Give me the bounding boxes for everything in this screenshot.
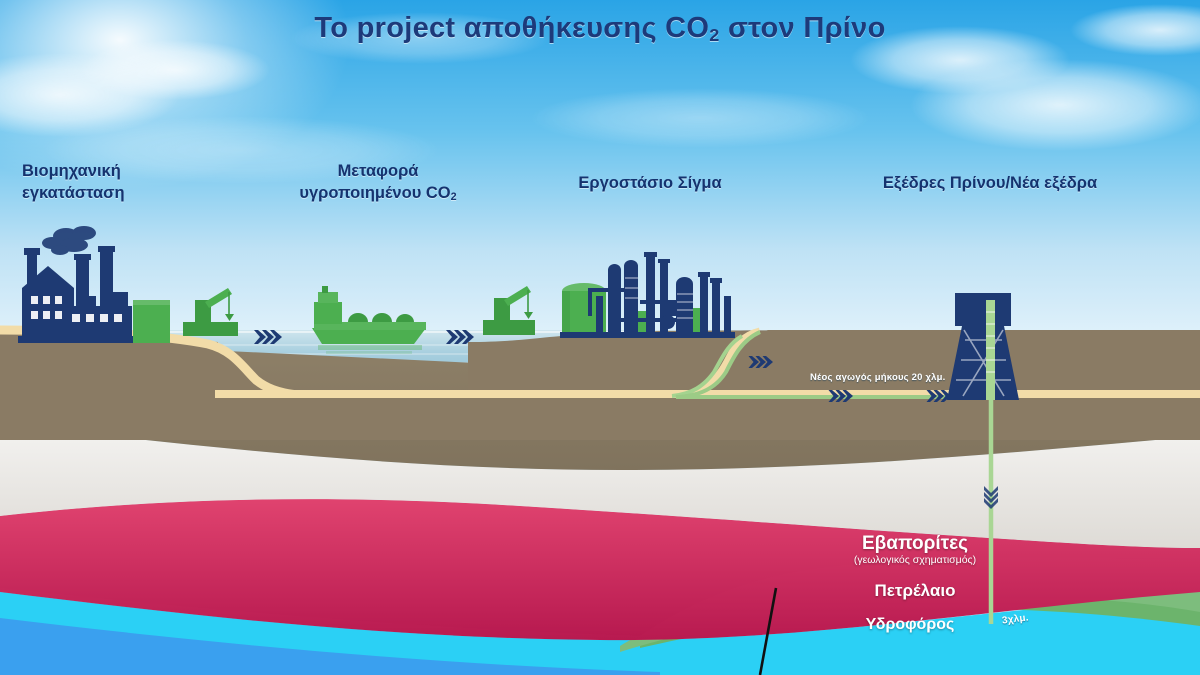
title-text-after: στον Πρίνο xyxy=(720,12,886,44)
stage-label-platform: Εξέδρες Πρίνου/Νέα εξέδρα xyxy=(845,172,1135,194)
stage-label-industry-line1: Βιομηχανική xyxy=(22,160,202,182)
strata-sublabel-evaporite: (γεωλογικός σχηματισμός) xyxy=(790,554,1040,566)
stage-label-transport-line2: υγροποιημένου CO2 xyxy=(268,182,488,208)
stage-label-sigma-line1: Εργοστάσιο Σίγμα xyxy=(540,172,760,194)
loading-crane-icon xyxy=(183,288,238,336)
page-title: Το project αποθήκευσης CO2 στον Πρίνο xyxy=(0,12,1200,46)
refinery-icon xyxy=(560,252,735,338)
stage-label-platform-line1: Εξέδρες Πρίνου/Νέα εξέδρα xyxy=(845,172,1135,194)
transport-co2-subscript: 2 xyxy=(451,191,457,203)
title-subscript: 2 xyxy=(709,25,719,45)
strata-label-evaporite: Εβαπορίτες xyxy=(790,533,1040,555)
transport-co2-text: υγροποιημένου CO xyxy=(299,184,450,202)
loading-crane-icon xyxy=(483,286,535,335)
flow-arrow-icon xyxy=(254,330,282,344)
flow-arrow-icon xyxy=(927,390,952,402)
offshore-platform-icon xyxy=(947,293,1019,400)
flow-arrow-icon xyxy=(829,390,854,402)
infographic-canvas: Το project αποθήκευσης CO2 στον Πρίνο Βι… xyxy=(0,0,1200,675)
pipeline-annotation: Νέος αγωγός μήκους 20 χλμ. xyxy=(810,372,945,383)
stage-label-industry-line2: εγκατάσταση xyxy=(22,182,202,204)
tanker-ship-icon xyxy=(312,286,426,354)
stage-label-sigma: Εργοστάσιο Σίγμα xyxy=(540,172,760,194)
stage-label-transport-line1: Μεταφορά xyxy=(268,160,488,182)
strata-label-aquifer: Υδροφόρος xyxy=(810,616,1010,634)
smoke-plume-icon xyxy=(42,226,96,255)
stage-label-transport: Μεταφορά υγροποιημένου CO2 xyxy=(268,160,488,208)
title-text-before: Το project αποθήκευσης CO xyxy=(314,12,709,44)
factory-icon xyxy=(18,246,136,343)
facilities xyxy=(0,0,1200,675)
flow-arrow-icon xyxy=(749,356,774,368)
flow-arrow-icon xyxy=(446,330,474,344)
strata-label-oil: Πετρέλαιο xyxy=(820,581,1010,601)
stage-label-industry: Βιομηχανική εγκατάσταση xyxy=(22,160,202,204)
storage-tank-icon xyxy=(133,300,170,343)
flow-arrow-icon xyxy=(984,486,998,509)
